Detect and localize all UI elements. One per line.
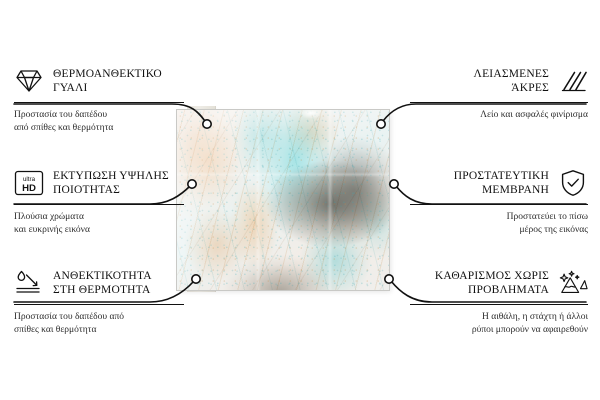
marble-speckle-layer	[177, 110, 389, 290]
sparkle-cloth-icon	[558, 268, 588, 298]
feature-header: ΠΡΟΣΤΑΤΕΥΤΙΚΗ ΜΕΜΒΡΑΝΗ	[410, 166, 588, 200]
feature-easy-cleaning: ΚΑΘΑΡΙΣΜΟΣ ΧΩΡΙΣ ΠΡΟΒΛΗΜΑΤΑ Η αιθάλη, η …	[410, 266, 588, 336]
feature-header: ΘΕΡΜΟΑΝΘΕΚΤΙΚΟ ΓΥΑΛΙ	[14, 64, 184, 98]
feature-description: Προστατεύει το πίσω μέρος της εικόνας	[410, 211, 588, 236]
feature-divider	[14, 102, 184, 103]
infographic-stage: ΘΕΡΜΟΑΝΘΕΚΤΙΚΟ ΓΥΑΛΙ Προστασία του δαπέδ…	[0, 0, 600, 400]
glass-panel-image	[177, 110, 389, 290]
feature-high-quality-print: ultra HD ΕΚΤΥΠΩΣΗ ΥΨΗΛΗΣ ΠΟΙΟΤΗΤΑΣ Πλούσ…	[14, 166, 184, 236]
feature-title: ΠΡΟΣΤΑΤΕΥΤΙΚΗ ΜΕΜΒΡΑΝΗ	[454, 169, 549, 197]
flame-thermometer-icon	[14, 268, 44, 298]
svg-text:ultra: ultra	[23, 176, 36, 183]
feature-description: Πλούσια χρώματα και ευκρινής εικόνα	[14, 211, 184, 236]
feature-protective-film: ΠΡΟΣΤΑΤΕΥΤΙΚΗ ΜΕΜΒΡΑΝΗ Προστατεύει το πί…	[410, 166, 588, 236]
diamond-icon	[14, 66, 44, 96]
feature-header: ΛΕΙΑΣΜΕΝΕΣ ΆΚΡΕΣ	[410, 64, 588, 98]
feature-header: ultra HD ΕΚΤΥΠΩΣΗ ΥΨΗΛΗΣ ΠΟΙΟΤΗΤΑΣ	[14, 166, 184, 200]
feature-header: ΚΑΘΑΡΙΣΜΟΣ ΧΩΡΙΣ ΠΡΟΒΛΗΜΑΤΑ	[410, 266, 588, 300]
feature-description: Λείο και ασφαλές φινίρισμα	[410, 109, 588, 122]
polished-edges-icon	[558, 66, 588, 96]
feature-title: ΘΕΡΜΟΑΝΘΕΚΤΙΚΟ ΓΥΑΛΙ	[53, 67, 162, 95]
product-image-area	[177, 110, 402, 292]
feature-title: ΑΝΘΕΚΤΙΚΟΤΗΤΑ ΣΤΗ ΘΕΡΜΟΤΗΤΑ	[53, 269, 152, 297]
svg-text:HD: HD	[22, 183, 36, 194]
feature-heat-resistant-glass: ΘΕΡΜΟΑΝΘΕΚΤΙΚΟ ΓΥΑΛΙ Προστασία του δαπέδ…	[14, 64, 184, 134]
ultra-hd-icon: ultra HD	[14, 168, 44, 198]
feature-polished-edges: ΛΕΙΑΣΜΕΝΕΣ ΆΚΡΕΣ Λείο και ασφαλές φινίρι…	[410, 64, 588, 122]
feature-title: ΕΚΤΥΠΩΣΗ ΥΨΗΛΗΣ ΠΟΙΟΤΗΤΑΣ	[53, 169, 169, 197]
feature-heat-durability: ΑΝΘΕΚΤΙΚΟΤΗΤΑ ΣΤΗ ΘΕΡΜΟΤΗΤΑ Προστασία το…	[14, 266, 184, 336]
shield-check-icon	[558, 168, 588, 198]
feature-description: Η αιθάλη, η στάχτη ή άλλοι ρύποι μπορούν…	[410, 311, 588, 336]
feature-divider	[410, 204, 588, 205]
feature-description: Προστασία του δαπέδου από σπίθες και θερ…	[14, 109, 184, 134]
feature-title: ΛΕΙΑΣΜΕΝΕΣ ΆΚΡΕΣ	[474, 67, 549, 95]
feature-header: ΑΝΘΕΚΤΙΚΟΤΗΤΑ ΣΤΗ ΘΕΡΜΟΤΗΤΑ	[14, 266, 184, 300]
feature-divider	[410, 102, 588, 103]
feature-description: Προστασία του δαπέδου από σπίθες και θερ…	[14, 311, 184, 336]
feature-title: ΚΑΘΑΡΙΣΜΟΣ ΧΩΡΙΣ ΠΡΟΒΛΗΜΑΤΑ	[435, 269, 549, 297]
feature-divider	[14, 304, 184, 305]
feature-divider	[14, 204, 184, 205]
feature-divider	[410, 304, 588, 305]
